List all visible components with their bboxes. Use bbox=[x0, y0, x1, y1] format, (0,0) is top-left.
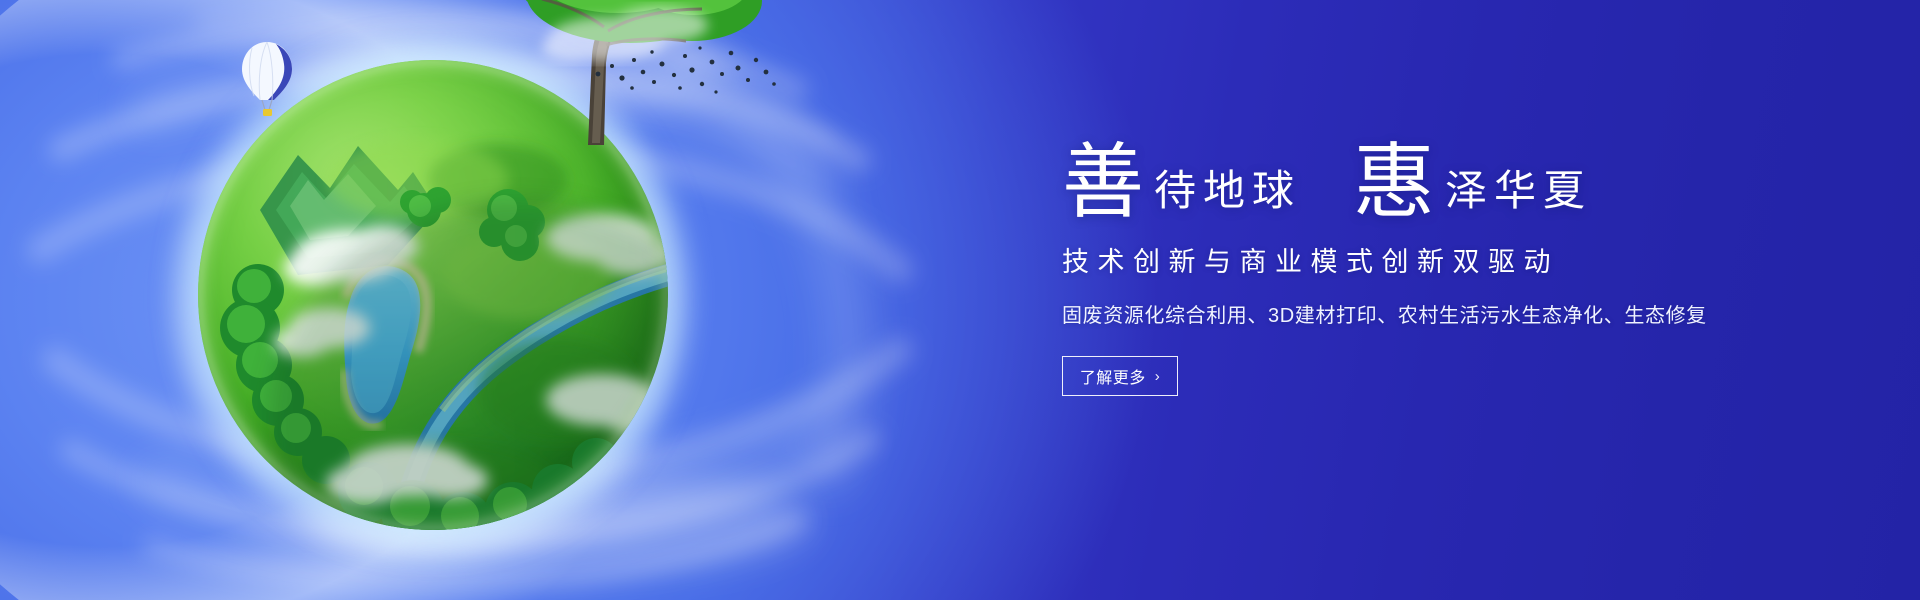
hero-subtitle: 技术创新与商业模式创新双驱动 bbox=[1062, 240, 1722, 279]
hero-description: 固废资源化综合利用、3D建材打印、农村生活污水生态净化、生态修复 bbox=[1062, 299, 1722, 328]
hero-banner: 善 待地球 惠 泽华夏 技术创新与商业模式创新双驱动 固废资源化综合利用、3D建… bbox=[0, 0, 1920, 600]
chevron-right-icon: › bbox=[1155, 369, 1161, 384]
headline-big-char-1: 善 bbox=[1062, 142, 1144, 224]
hero-headline: 善 待地球 惠 泽华夏 bbox=[1062, 126, 1722, 218]
learn-more-label: 了解更多 bbox=[1080, 364, 1146, 388]
headline-small-text-2: 泽华夏 bbox=[1435, 170, 1592, 212]
hero-content: 善 待地球 惠 泽华夏 技术创新与商业模式创新双驱动 固废资源化综合利用、3D建… bbox=[1062, 126, 1722, 396]
hot-air-balloon-icon bbox=[238, 40, 296, 122]
bird-flock-icon bbox=[588, 44, 778, 100]
headline-big-char-2: 惠 bbox=[1353, 142, 1435, 224]
headline-small-text-1: 待地球 bbox=[1144, 170, 1301, 212]
learn-more-button[interactable]: 了解更多 › bbox=[1062, 356, 1178, 396]
